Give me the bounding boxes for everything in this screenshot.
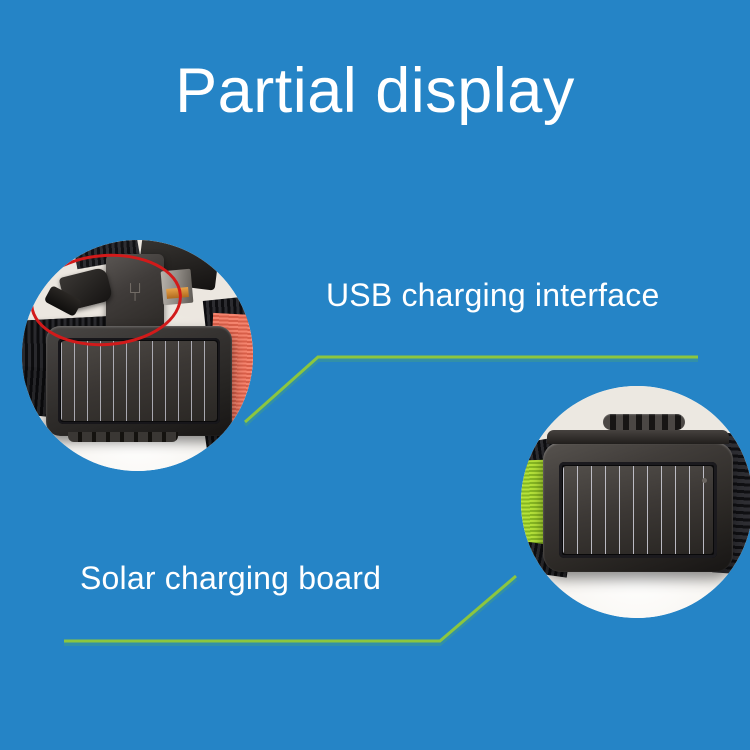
lamp-housing-lip (68, 432, 178, 442)
solar-panel-frame (559, 462, 717, 558)
solar-panel-cells (563, 466, 713, 554)
solar-panel-cells (61, 341, 217, 421)
product-feature-banner: Partial display USB charging interface ⑂ (0, 0, 750, 750)
callout-label-usb-charging-interface: USB charging interface (326, 277, 659, 314)
solar-photo-content (521, 386, 750, 618)
lamp-housing-ridge-grip (603, 414, 685, 430)
solar-panel-frame (58, 338, 220, 424)
housing-screw-dot (702, 478, 707, 483)
photo-inset-solar-charging-board (521, 386, 750, 618)
photo-inset-usb-charging-interface: ⑂ (22, 240, 253, 471)
lamp-housing (543, 442, 733, 572)
callout-label-solar-charging-board: Solar charging board (80, 560, 381, 597)
page-title: Partial display (0, 58, 750, 124)
lamp-housing-top-edge (547, 430, 729, 444)
usb-photo-content: ⑂ (22, 240, 253, 471)
